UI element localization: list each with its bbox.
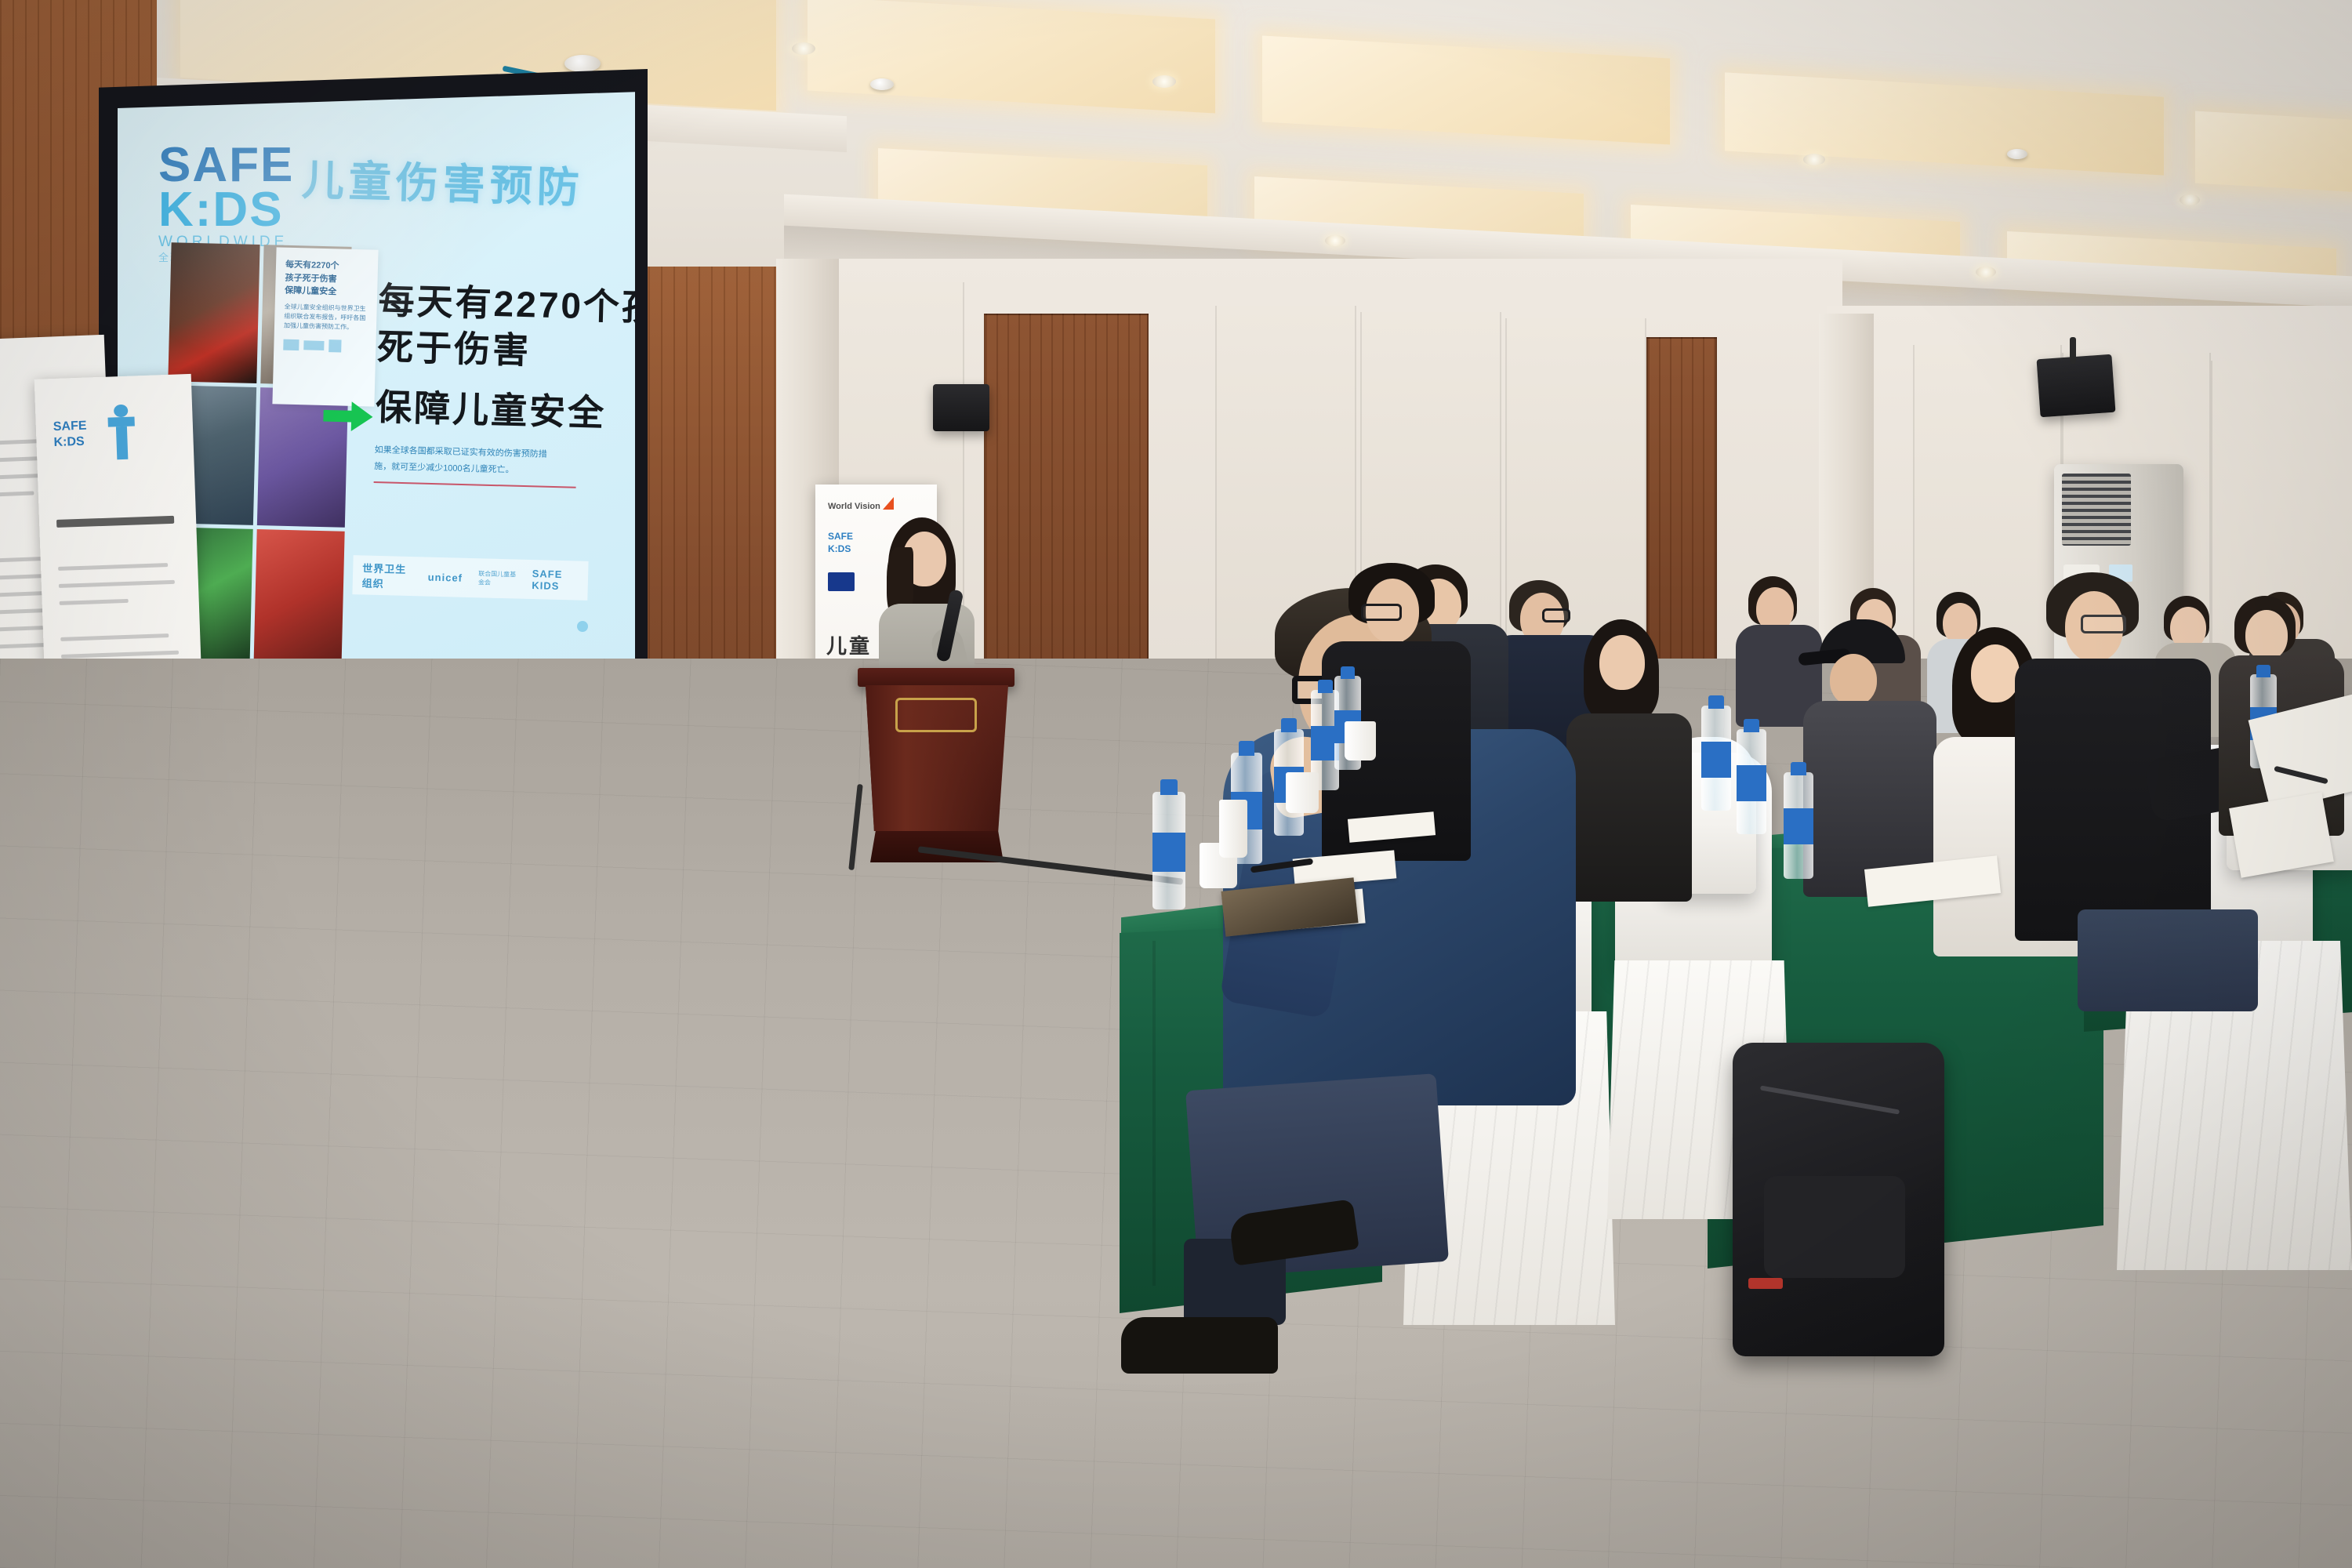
slide-logo-safekids: SAFE KIDS: [532, 568, 579, 593]
water-bottle-8-label: [1784, 808, 1813, 844]
slide-message-line3: 保障儿童安全: [375, 384, 611, 437]
slide-message-rule: [374, 481, 576, 488]
rollup-safekids-line1: SAFE: [828, 532, 853, 542]
water-bottle-7-cap: [1744, 719, 1759, 732]
standee-left-text-4: [60, 633, 169, 641]
slide-message-line1: 每天有2270个孩子: [378, 278, 614, 330]
backpack-zipper: [1760, 1085, 1900, 1114]
attendee-man-glasses-eyewear: [2081, 615, 2126, 633]
water-bottle-1[interactable]: [1152, 792, 1185, 909]
attendee-woman-dark-coat-head: [1599, 635, 1645, 690]
water-bottle-6-cap: [1708, 695, 1724, 709]
standee-left-text-1: [58, 563, 168, 571]
slide-poster-heading-3: 保障儿童安全: [285, 285, 368, 299]
water-bottle-9-cap: [2256, 665, 2270, 677]
backpack-pocket: [1764, 1176, 1905, 1278]
water-bottle-8-cap: [1791, 762, 1806, 775]
downlight-1: [792, 42, 815, 55]
slide-title: 儿童伤害预防: [301, 145, 585, 215]
smoke-detector-3: [2007, 149, 2027, 159]
slide-logo-unicef: unicef: [428, 571, 463, 583]
standee-left-title: [56, 516, 174, 528]
speaker-mount: [2070, 337, 2076, 364]
slide-poster-logos: [283, 338, 366, 353]
safe-kids-logo-line2: K:DS: [158, 187, 294, 232]
downlight-4: [1976, 267, 1996, 278]
ceiling-coffer-5: [2195, 111, 2352, 197]
downlight-2: [1152, 75, 1176, 88]
attendee-navy-vest-glasses: [1542, 608, 1570, 622]
standee-left-figure-body: [116, 426, 128, 459]
podium-top: [858, 668, 1014, 687]
slide-poster-logo-2: [303, 340, 324, 350]
slide-logo-strip: 世界卫生组织 unicef 联合国儿童基金会 SAFE KIDS: [352, 555, 588, 601]
slide-logo-who: 世界卫生组织: [362, 560, 413, 591]
slide-photo-6: [253, 529, 345, 670]
podium-emblem: [895, 698, 977, 732]
slide-photo-1: [168, 242, 260, 383]
water-bottle-7[interactable]: [1737, 729, 1766, 834]
downlight-5: [1325, 235, 1345, 246]
water-bottle-5-cap: [1341, 666, 1355, 679]
water-bottle-8[interactable]: [1784, 772, 1813, 879]
water-bottle-7-label: [1737, 765, 1766, 801]
slide-message: 每天有2270个孩子 死于伤害 保障儿童安全 如果全球各国都采取已证实有效的伤害…: [374, 278, 615, 489]
attendee-woman-white-top-head: [1971, 644, 2020, 702]
smoke-detector-2: [870, 78, 894, 90]
standee-far-left-text-4: [0, 491, 34, 497]
paper-cup-2[interactable]: [1286, 772, 1319, 813]
slide-poster-logo-1: [283, 339, 299, 350]
slide-poster-card: 每天有2270个 孩子死于伤害 保障儿童安全 全球儿童安全组织与世界卫生组织联合…: [272, 247, 378, 406]
slide-poster-body: 全球儿童安全组织与世界卫生组织联合发布报告，呼吁各国加强儿童伤害预防工作。: [284, 302, 368, 332]
air-conditioner-vent: [2062, 474, 2131, 546]
rollup-eu-logo: [828, 572, 855, 591]
attendee-man-glasses-leg: [2078, 909, 2258, 1011]
black-backpack[interactable]: [1733, 1043, 1944, 1356]
backpack-red-strip: [1748, 1278, 1783, 1289]
wall-speaker: [933, 384, 989, 431]
attendee-black-sweater-glasses-eyewear: [1361, 604, 1402, 621]
standee-left-text-2: [59, 580, 175, 588]
table-front-fold-1: [1152, 941, 1156, 1286]
water-bottle-6-label: [1701, 742, 1731, 778]
water-bottle-1-label: [1152, 833, 1185, 872]
slide-logo-unicef-sub: 联合国儿童基金会: [478, 569, 517, 587]
water-bottle-6[interactable]: [1701, 706, 1731, 811]
slide-poster-logo-3: [328, 339, 341, 352]
downlight-3: [1803, 154, 1825, 165]
paper-cup-4[interactable]: [1345, 721, 1376, 760]
door-right[interactable]: [1646, 337, 1717, 674]
water-bottle-3-cap: [1281, 718, 1297, 732]
downlight-6: [2180, 194, 2200, 205]
green-arrow-icon: [322, 399, 373, 434]
standee-left-logo-line1: SAFE: [53, 420, 87, 434]
paper-cup-3[interactable]: [1219, 800, 1247, 858]
attendee-far-right-1-head: [2245, 610, 2288, 660]
slide-message-line2: 死于伤害: [376, 324, 612, 376]
rollup-world-vision-text: World Vision: [828, 502, 880, 511]
rollup-title-line1: 儿童: [826, 630, 872, 659]
standee-left-text-5: [61, 651, 179, 659]
standee-left-figure-icon: [107, 416, 134, 426]
slide-marker-dot: [577, 621, 588, 632]
water-bottle-2-cap: [1239, 741, 1254, 756]
standee-left-figure-head: [114, 405, 129, 418]
attendee-woman-dark-coat-torso: [1566, 713, 1692, 902]
water-bottle-4-cap: [1318, 680, 1333, 693]
slide-poster-heading-1: 每天有2270个: [285, 259, 368, 274]
rollup-world-vision-icon: [883, 497, 894, 510]
safe-kids-logo-line1: SAFE: [158, 143, 294, 187]
water-bottle-1-cap: [1160, 779, 1178, 795]
rollup-safekids-line2: K:DS: [828, 544, 851, 554]
smoke-detector-1: [564, 55, 601, 72]
standee-left-logo-line2: K:DS: [53, 436, 85, 450]
attendee-foreground-shoe-1: [1121, 1317, 1278, 1374]
conference-room-photo: SAFE K:DS WORLDWIDE 全球儿童安全组织 儿童伤害预防 每天有2…: [0, 0, 2352, 1568]
ceiling-speaker: [2037, 354, 2116, 418]
attendee-black-cap-head: [1830, 654, 1877, 706]
standee-left-text-3: [60, 599, 129, 605]
